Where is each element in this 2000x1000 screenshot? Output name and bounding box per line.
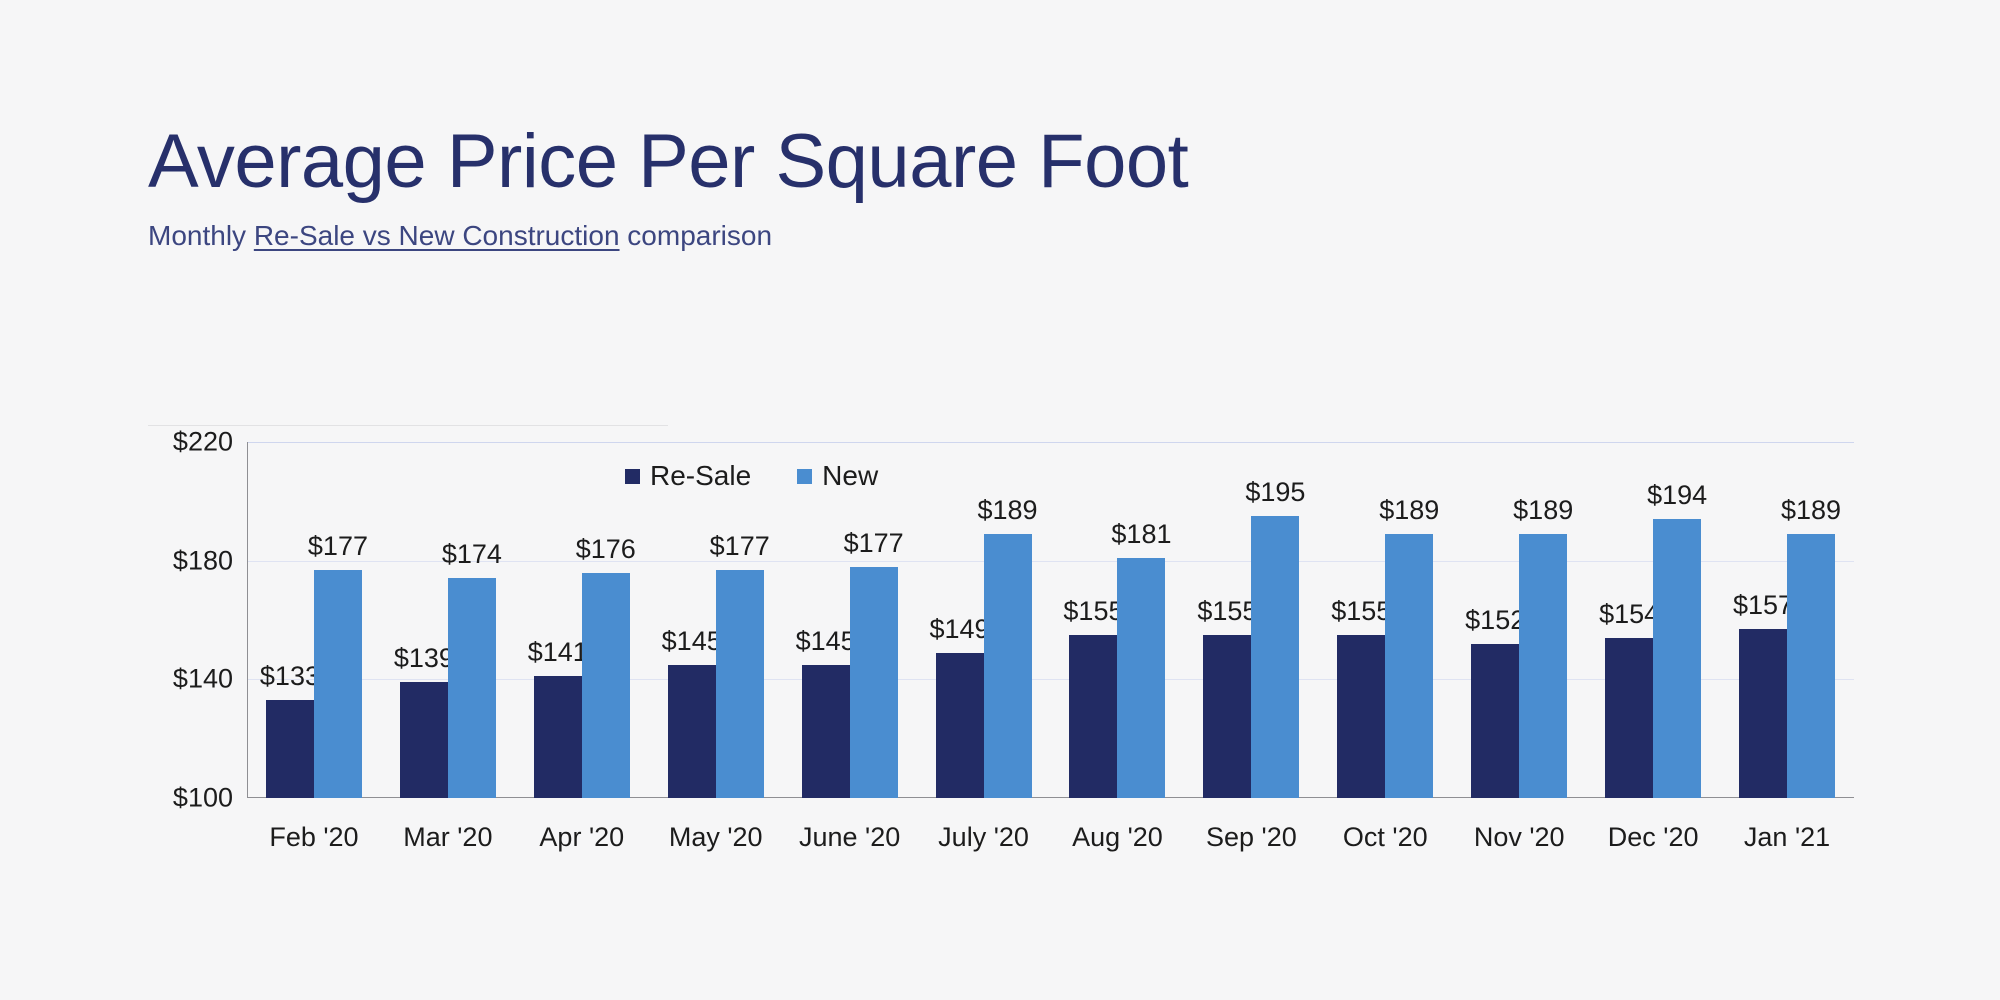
bar-rect — [984, 534, 1032, 798]
bar-resale[interactable]: $139 — [400, 442, 448, 798]
bar-groups: $133$177$139$174$141$176$145$177$145$177… — [247, 442, 1854, 798]
bar-resale[interactable]: $133 — [266, 442, 314, 798]
bar-rect — [936, 653, 984, 798]
bar-value-label: $154 — [1599, 599, 1659, 630]
bar-rect — [668, 665, 716, 799]
bar-resale[interactable]: $155 — [1069, 442, 1117, 798]
x-axis-tick-label: Aug '20 — [1072, 822, 1163, 853]
bar-group: $157$189 — [1720, 442, 1854, 798]
legend-swatch-icon-new — [797, 469, 812, 484]
bar-resale[interactable]: $157 — [1739, 442, 1787, 798]
bar-value-label: $177 — [308, 531, 368, 562]
legend-item-new[interactable]: New — [797, 460, 878, 492]
bar-value-label: $189 — [1379, 495, 1439, 526]
header: Average Price Per Square Foot Monthly Re… — [148, 124, 1848, 252]
bar-new[interactable]: $181 — [1117, 442, 1165, 798]
bar-rect — [802, 665, 850, 799]
bar-group: $154$194 — [1586, 442, 1720, 798]
page-subtitle: Monthly Re-Sale vs New Construction comp… — [148, 220, 1848, 252]
bar-rect — [850, 567, 898, 798]
bar-rect — [534, 676, 582, 798]
bar-new[interactable]: $189 — [984, 442, 1032, 798]
bar-group: $149$189 — [917, 442, 1051, 798]
legend-item-resale[interactable]: Re-Sale — [625, 460, 751, 492]
bar-value-label: $177 — [844, 528, 904, 559]
bar-rect — [1787, 534, 1835, 798]
bar-rect — [1739, 629, 1787, 798]
chart-legend: Re-Sale New — [625, 460, 878, 492]
bar-rect — [1069, 635, 1117, 798]
x-axis-tick-label: May '20 — [669, 822, 763, 853]
x-axis-tick-label: Mar '20 — [403, 822, 492, 853]
bar-value-label: $149 — [929, 614, 989, 645]
x-axis-tick-label: Sep '20 — [1206, 822, 1297, 853]
subtitle-underlined-phrase: Re-Sale vs New Construction — [254, 220, 620, 251]
bar-rect — [266, 700, 314, 798]
bar-group: $141$176 — [515, 442, 649, 798]
bar-resale[interactable]: $145 — [802, 442, 850, 798]
bar-rect — [1605, 638, 1653, 798]
bar-rect — [1519, 534, 1567, 798]
bar-resale[interactable]: $145 — [668, 442, 716, 798]
bar-new[interactable]: $177 — [314, 442, 362, 798]
bar-value-label: $141 — [528, 637, 588, 668]
subtitle-suffix: comparison — [620, 220, 773, 251]
bar-group: $155$195 — [1184, 442, 1318, 798]
bar-rect — [1251, 516, 1299, 798]
bar-value-label: $157 — [1733, 590, 1793, 621]
bar-new[interactable]: $189 — [1787, 442, 1835, 798]
bar-new[interactable]: $174 — [448, 442, 496, 798]
bar-value-label: $189 — [1781, 495, 1841, 526]
bar-value-label: $189 — [1513, 495, 1573, 526]
bar-rect — [1653, 519, 1701, 798]
bar-value-label: $194 — [1647, 480, 1707, 511]
bar-group: $133$177 — [247, 442, 381, 798]
bar-value-label: $145 — [662, 626, 722, 657]
bar-resale[interactable]: $141 — [534, 442, 582, 798]
bar-value-label: $139 — [394, 643, 454, 674]
bar-group: $139$174 — [381, 442, 515, 798]
bar-rect — [1203, 635, 1251, 798]
bar-group: $145$177 — [783, 442, 917, 798]
slide-canvas: Average Price Per Square Foot Monthly Re… — [0, 0, 2000, 1000]
bar-resale[interactable]: $155 — [1337, 442, 1385, 798]
y-axis-tick-220: $220 — [148, 427, 233, 458]
legend-label-new: New — [822, 460, 878, 492]
x-axis-tick-label: Nov '20 — [1474, 822, 1565, 853]
bar-rect — [1117, 558, 1165, 798]
x-axis-tick-label: Dec '20 — [1608, 822, 1699, 853]
x-axis-tick-label: Jan '21 — [1744, 822, 1830, 853]
bar-rect — [314, 570, 362, 798]
bar-chart: $100$140$180$220 Feb '20Mar '20Apr '20Ma… — [148, 416, 1858, 816]
bar-rect — [1471, 644, 1519, 798]
bar-new[interactable]: $177 — [850, 442, 898, 798]
bar-value-label: $177 — [710, 531, 770, 562]
bar-rect — [448, 578, 496, 798]
bar-rect — [1337, 635, 1385, 798]
bar-new[interactable]: $194 — [1653, 442, 1701, 798]
bar-value-label: $174 — [442, 539, 502, 570]
bar-new[interactable]: $176 — [582, 442, 630, 798]
bar-rect — [400, 682, 448, 798]
bar-value-label: $155 — [1063, 596, 1123, 627]
legend-swatch-icon-resale — [625, 469, 640, 484]
bar-value-label: $155 — [1331, 596, 1391, 627]
bar-value-label: $176 — [576, 534, 636, 565]
bar-resale[interactable]: $155 — [1203, 442, 1251, 798]
bar-new[interactable]: $177 — [716, 442, 764, 798]
bar-new[interactable]: $189 — [1519, 442, 1567, 798]
bar-resale[interactable]: $149 — [936, 442, 984, 798]
x-axis-tick-label: Feb '20 — [269, 822, 358, 853]
x-axis-tick-label: July '20 — [938, 822, 1029, 853]
plot-area: Re-Sale New $133$177$139$174$141$176$145… — [247, 442, 1854, 798]
bar-value-label: $181 — [1111, 519, 1171, 550]
bar-rect — [716, 570, 764, 798]
bar-group: $155$181 — [1051, 442, 1185, 798]
bar-value-label: $189 — [977, 495, 1037, 526]
y-axis-tick-180: $180 — [148, 545, 233, 576]
bar-resale[interactable]: $152 — [1471, 442, 1519, 798]
x-axis-tick-label: June '20 — [799, 822, 900, 853]
bar-value-label: $152 — [1465, 605, 1525, 636]
bar-value-label: $145 — [796, 626, 856, 657]
bar-rect — [1385, 534, 1433, 798]
legend-label-resale: Re-Sale — [650, 460, 751, 492]
bar-value-label: $133 — [260, 661, 320, 692]
bar-new[interactable]: $195 — [1251, 442, 1299, 798]
y-axis-tick-100: $100 — [148, 783, 233, 814]
bar-group: $152$189 — [1452, 442, 1586, 798]
bar-rect — [582, 573, 630, 798]
subtitle-prefix: Monthly — [148, 220, 254, 251]
bar-new[interactable]: $189 — [1385, 442, 1433, 798]
x-axis-tick-label: Apr '20 — [539, 822, 624, 853]
bar-group: $155$189 — [1318, 442, 1452, 798]
x-axis-tick-label: Oct '20 — [1343, 822, 1428, 853]
bar-value-label: $195 — [1245, 477, 1305, 508]
bar-value-label: $155 — [1197, 596, 1257, 627]
page-title: Average Price Per Square Foot — [148, 124, 1848, 200]
bar-resale[interactable]: $154 — [1605, 442, 1653, 798]
y-axis-tick-140: $140 — [148, 664, 233, 695]
bar-group: $145$177 — [649, 442, 783, 798]
